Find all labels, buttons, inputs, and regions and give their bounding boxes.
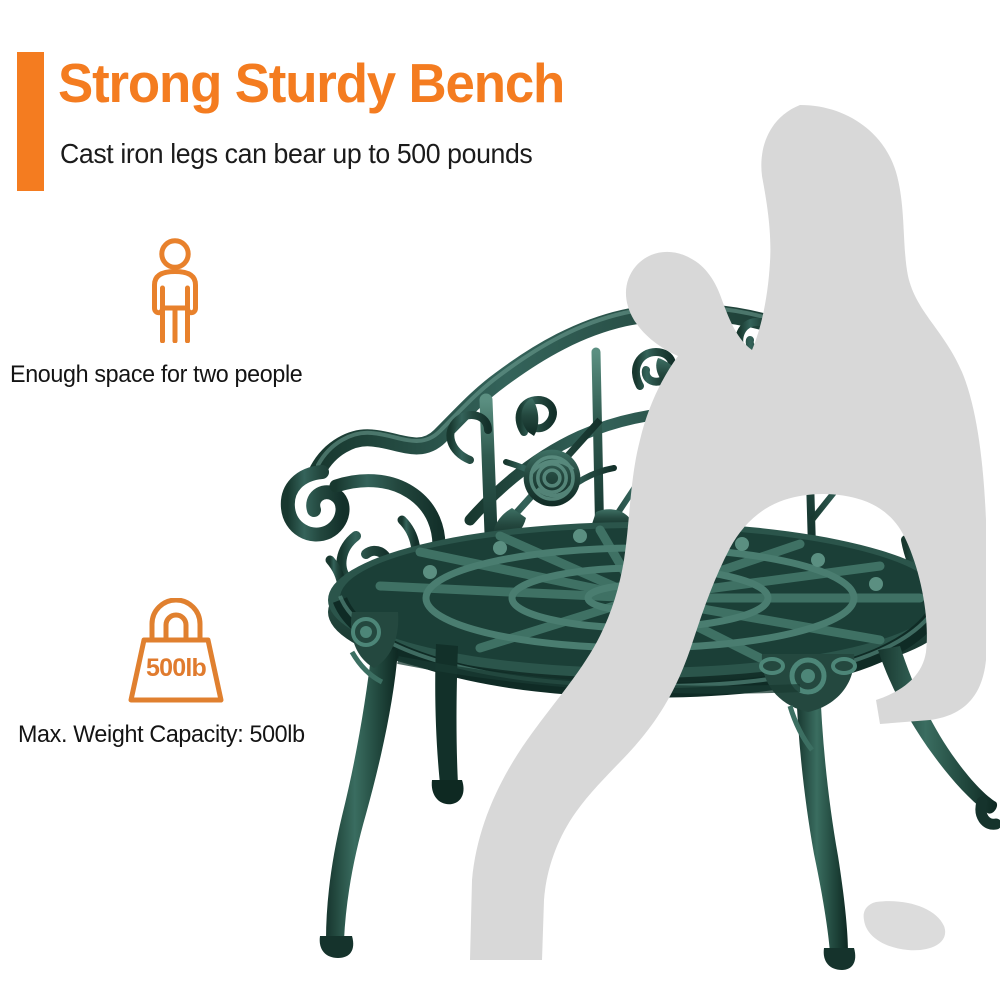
right-armrest	[906, 478, 975, 618]
bench-seat	[328, 522, 952, 690]
page-subtitle: Cast iron legs can bear up to 500 pounds	[60, 137, 681, 171]
bench-leg-right-front	[761, 654, 855, 970]
rose-motif	[843, 451, 881, 489]
bench-leg-left-front	[320, 612, 399, 958]
weight-bag-icon: 500lb	[127, 598, 225, 703]
bench-frame	[288, 307, 997, 970]
product-infographic: Strong Sturdy Bench Cast iron legs can b…	[0, 0, 1000, 1000]
bench-leg-left-rear	[432, 644, 464, 804]
feature-label-max-weight: Max. Weight Capacity: 500lb	[18, 720, 305, 750]
left-armrest	[288, 472, 439, 612]
rose-motif	[524, 450, 581, 507]
bench-leg-right-rear	[878, 646, 997, 824]
headline-accent-bar	[17, 52, 44, 191]
seated-person-silhouette	[470, 105, 986, 960]
feature-label-capacity-people: Enough space for two people	[10, 360, 302, 390]
rose-motif	[689, 393, 738, 442]
person-standing-icon	[141, 238, 209, 343]
page-title: Strong Sturdy Bench	[58, 52, 730, 114]
weight-badge-value: 500lb	[127, 654, 225, 683]
